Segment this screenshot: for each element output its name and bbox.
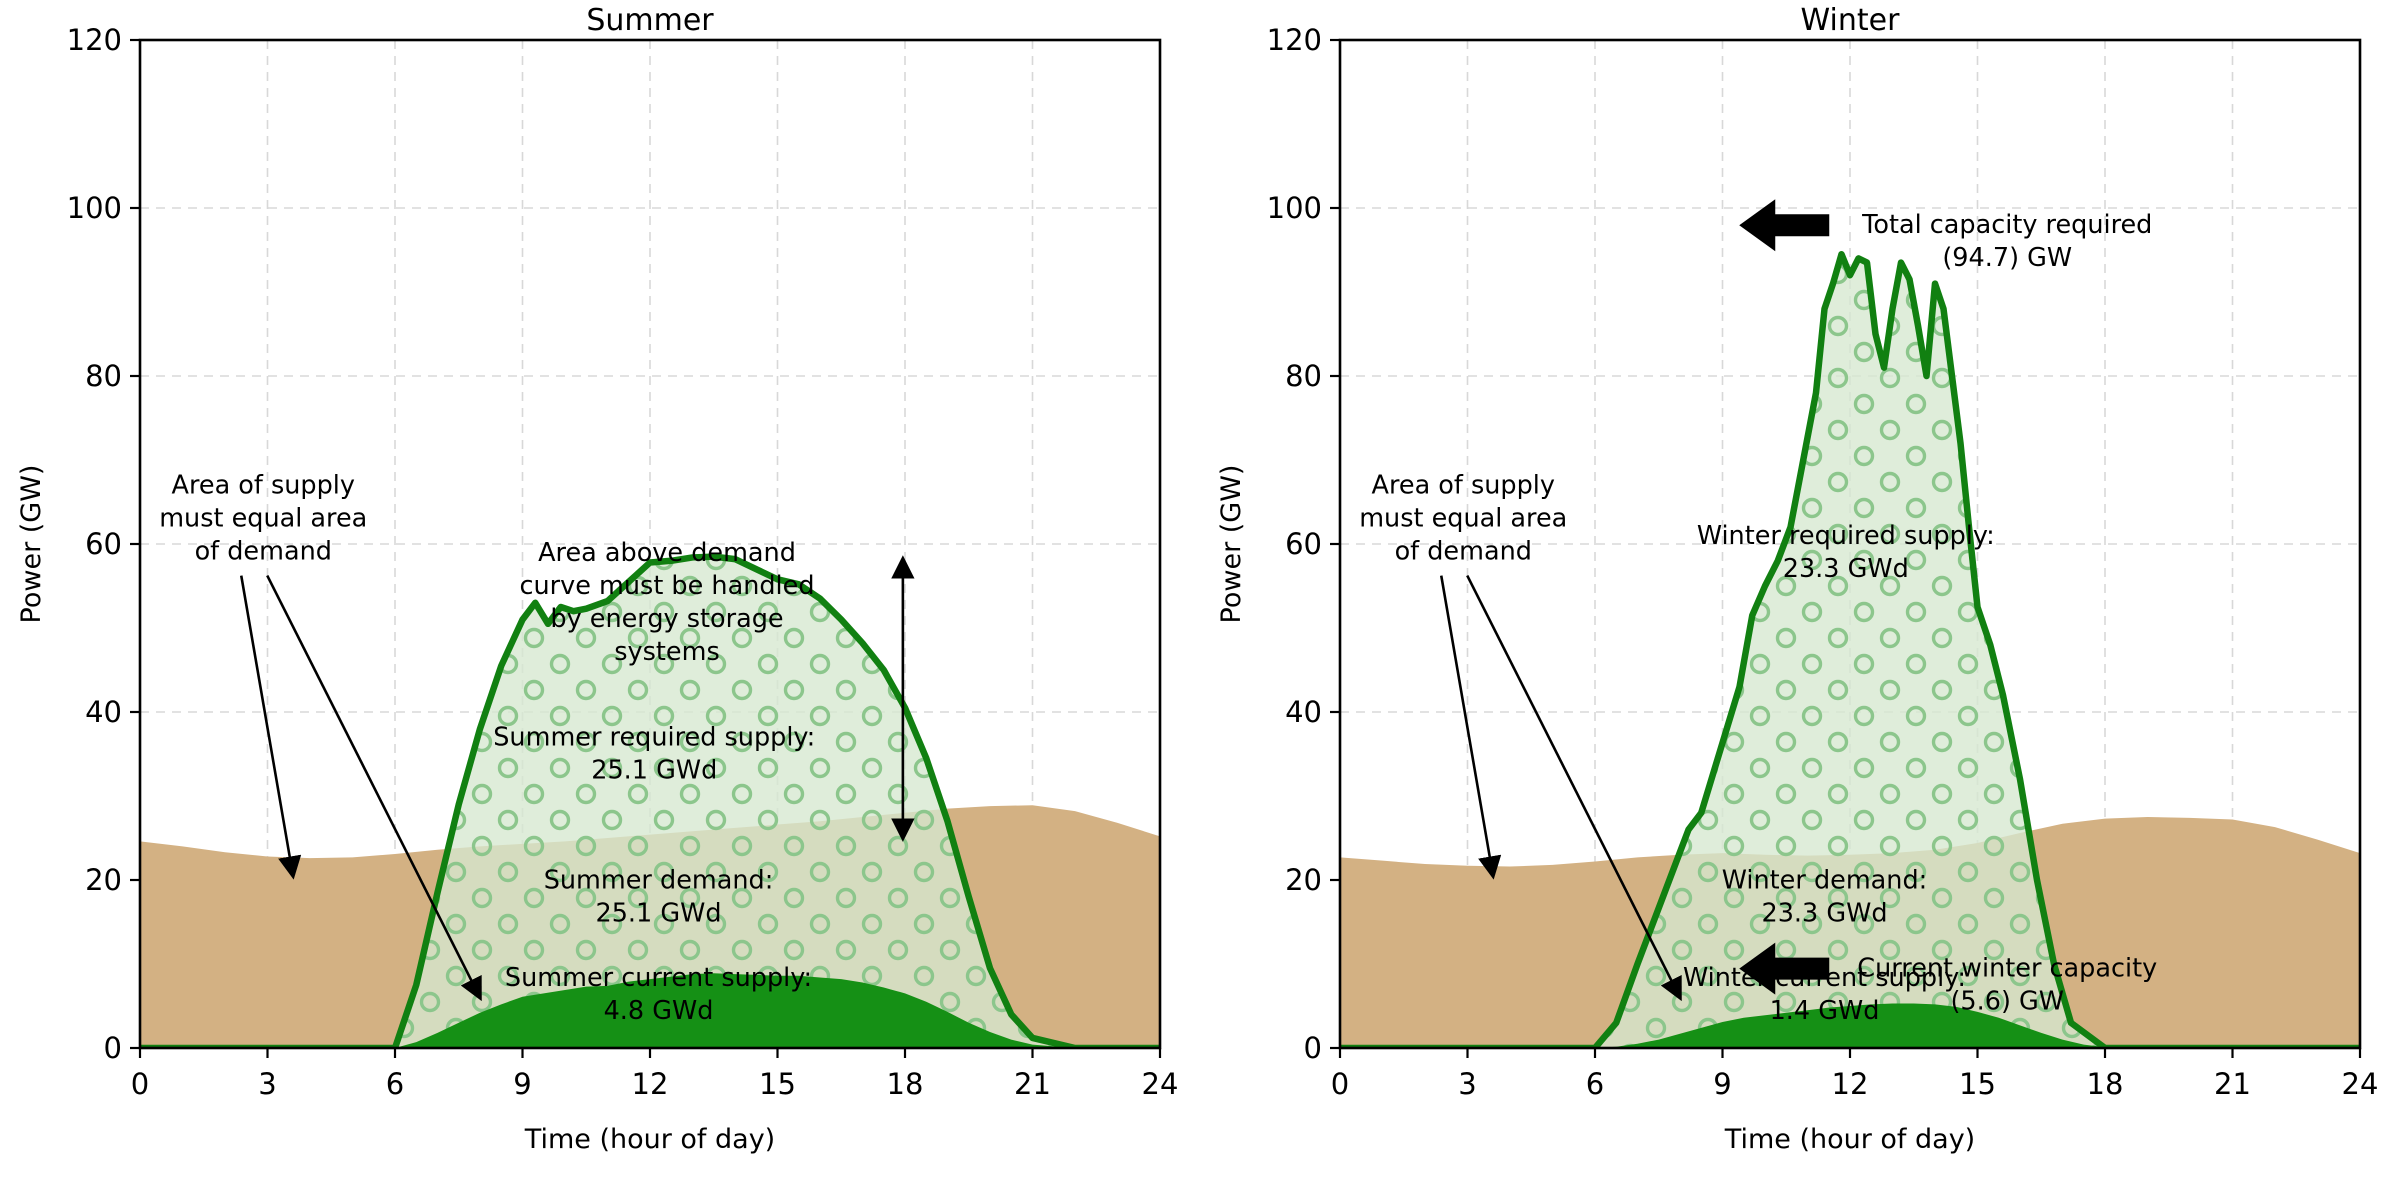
x-axis-label: Time (hour of day) [1724, 1124, 1975, 1155]
ytick-label: 0 [104, 1031, 122, 1065]
annotation-line: 25.1 GWd [591, 756, 717, 786]
xtick-label: 18 [887, 1067, 924, 1101]
plot-winter: 03691215182124020406080100120WinterTime … [1200, 0, 2400, 1200]
annotation-line: systems [614, 637, 719, 667]
ytick-label: 40 [1285, 695, 1322, 729]
ytick-label: 20 [1285, 863, 1322, 897]
annotation-line: Area of supply [1372, 471, 1555, 501]
annotation-line: Winter demand: [1722, 865, 1927, 895]
xtick-label: 0 [1331, 1067, 1349, 1101]
chart-panel-summer: 03691215182124020406080100120SummerTime … [0, 0, 1200, 1200]
ytick-label: 100 [67, 191, 122, 225]
xtick-label: 24 [1142, 1067, 1179, 1101]
ytick-label: 80 [85, 359, 122, 393]
annotation-line: Total capacity required [1861, 210, 2152, 240]
annotation-line: Winter required supply: [1697, 521, 1995, 551]
figure-canvas: 03691215182124020406080100120SummerTime … [0, 0, 2400, 1200]
annotation-line: 23.3 GWd [1761, 898, 1887, 928]
annotation-line: 1.4 GWd [1770, 996, 1880, 1026]
annotation-line: of demand [1395, 537, 1532, 567]
xtick-label: 6 [1586, 1067, 1604, 1101]
series-layer [1340, 254, 2360, 1048]
annotation-line: 4.8 GWd [604, 996, 714, 1026]
annotation-line: (94.7) GW [1942, 243, 2072, 273]
y-axis-label: Power (GW) [1216, 465, 1247, 624]
xtick-label: 18 [2087, 1067, 2124, 1101]
xtick-label: 15 [1959, 1067, 1996, 1101]
ytick-label: 0 [1304, 1031, 1322, 1065]
annotation-line: must equal area [159, 504, 367, 534]
chart-title: Winter [1801, 3, 1901, 38]
ytick-label: 40 [85, 695, 122, 729]
xtick-label: 3 [1458, 1067, 1476, 1101]
y-axis-label: Power (GW) [16, 465, 47, 624]
xtick-label: 21 [2214, 1067, 2251, 1101]
xtick-label: 15 [759, 1067, 796, 1101]
annotation-line: (5.6) GW [1950, 987, 2064, 1017]
chart-title: Summer [586, 3, 714, 38]
annotation-line: curve must be handled [519, 571, 814, 601]
ytick-label: 120 [67, 23, 122, 57]
xtick-label: 0 [131, 1067, 149, 1101]
ytick-label: 20 [85, 863, 122, 897]
annotation-line: Summer current supply: [505, 963, 812, 993]
annotation-line: 23.3 GWd [1783, 554, 1909, 584]
ytick-label: 60 [85, 527, 122, 561]
annotation-line: Summer required supply: [493, 723, 815, 753]
xtick-label: 3 [258, 1067, 276, 1101]
xtick-label: 21 [1014, 1067, 1051, 1101]
plot-summer: 03691215182124020406080100120SummerTime … [0, 0, 1200, 1200]
annotation-line: Summer demand: [544, 865, 774, 895]
annotation-line: Area above demand [538, 538, 796, 568]
annotation-line: 25.1 GWd [595, 898, 721, 928]
ytick-label: 120 [1267, 23, 1322, 57]
annotation-line: Winter current supply: [1683, 963, 1966, 993]
xtick-label: 12 [1832, 1067, 1869, 1101]
callout-arrow [1739, 199, 1829, 251]
chart-panel-winter: 03691215182124020406080100120WinterTime … [1200, 0, 2400, 1200]
xtick-label: 12 [632, 1067, 669, 1101]
ytick-label: 60 [1285, 527, 1322, 561]
xtick-label: 24 [2342, 1067, 2379, 1101]
x-axis-label: Time (hour of day) [524, 1124, 775, 1155]
xtick-label: 9 [513, 1067, 531, 1101]
annotation-line: Area of supply [172, 471, 355, 501]
ytick-label: 80 [1285, 359, 1322, 393]
annotation-line: must equal area [1359, 504, 1567, 534]
xtick-label: 6 [386, 1067, 404, 1101]
annotation-total-capacity-note: Total capacity required(94.7) GW [1739, 199, 2152, 273]
annotation-line: by energy storage [550, 604, 783, 634]
xtick-label: 9 [1713, 1067, 1731, 1101]
ytick-label: 100 [1267, 191, 1322, 225]
annotation-line: of demand [195, 537, 332, 567]
